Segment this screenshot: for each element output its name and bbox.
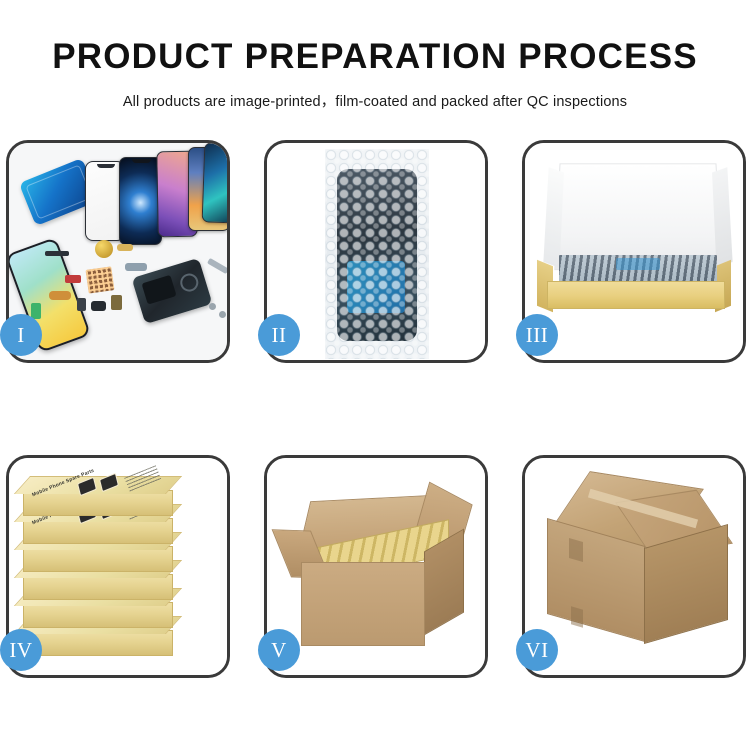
part-camera-icon — [91, 301, 106, 311]
bubble-wrap-sheet — [325, 149, 429, 359]
carton-seam-icon-1 — [569, 538, 583, 562]
phone-screen-blue-icon — [119, 157, 162, 245]
spare-parts-box-3 — [23, 574, 173, 600]
step-panel-1: I — [6, 140, 230, 363]
spare-parts-box-6: Mobile Phone Spare Parts — [23, 490, 173, 516]
step-badge-2: II — [258, 314, 300, 356]
step-panel-3: III — [522, 140, 746, 363]
page-subtitle: All products are image-printed，film-coat… — [0, 90, 750, 111]
step-panel-5: V — [264, 455, 488, 678]
spare-parts-box-5: Mobile Phone Spare Parts — [23, 518, 173, 544]
part-flex-cable-icon — [117, 244, 133, 251]
part-button-icon — [77, 298, 86, 311]
sealed-carton — [541, 480, 733, 660]
part-red-icon — [65, 275, 81, 283]
screw-icon-1 — [209, 303, 216, 310]
step-badge-3: III — [516, 314, 558, 356]
carton-seam-icon-2 — [571, 606, 583, 627]
part-tool-icon — [207, 258, 227, 274]
bubble-pattern-icon — [325, 149, 429, 359]
chip-grid-icon — [85, 266, 114, 293]
step-image-sealed-carton — [525, 458, 743, 675]
spare-parts-box-2 — [23, 602, 173, 628]
part-connector-icon — [49, 291, 71, 300]
part-bracket-icon — [125, 263, 147, 271]
wrapped-contents-icon — [559, 255, 717, 283]
step-panel-4: Mobile Phone Spare Parts Mobile Phone Sp… — [6, 455, 230, 678]
spare-parts-box-1 — [23, 630, 173, 656]
step-badge-6: VI — [516, 629, 558, 671]
step-panel-2: II — [264, 140, 488, 363]
step-image-boxed-stack: Mobile Phone Spare Parts Mobile Phone Sp… — [9, 458, 227, 675]
step-badge-5: V — [258, 629, 300, 671]
part-battery-icon — [111, 295, 122, 310]
step-image-phone-screens-and-parts — [9, 143, 227, 360]
box-stack: Mobile Phone Spare Parts Mobile Phone Sp… — [23, 482, 219, 658]
step-badge-1: I — [0, 314, 42, 356]
speaker-module-icon — [95, 240, 113, 258]
header: PRODUCT PREPARATION PROCESS All products… — [0, 0, 750, 111]
product-preparation-infographic: PRODUCT PREPARATION PROCESS All products… — [0, 0, 750, 750]
box-front-panel-icon — [547, 281, 725, 309]
spare-parts-box-4 — [23, 546, 173, 572]
open-carton — [291, 488, 469, 656]
screw-icon-2 — [219, 311, 226, 318]
page-title: PRODUCT PREPARATION PROCESS — [0, 38, 750, 77]
step-badge-4: IV — [0, 629, 42, 671]
step-image-inner-box-packing — [525, 143, 743, 360]
steps-grid: I II III — [6, 140, 745, 678]
part-strip-icon — [45, 251, 69, 256]
step-image-carton-filling — [267, 458, 485, 675]
carton-front-face-icon — [301, 562, 425, 646]
step-image-bubble-wrap — [267, 143, 485, 360]
step-panel-6: VI — [522, 455, 746, 678]
phone-screen-teal-icon — [202, 143, 227, 224]
